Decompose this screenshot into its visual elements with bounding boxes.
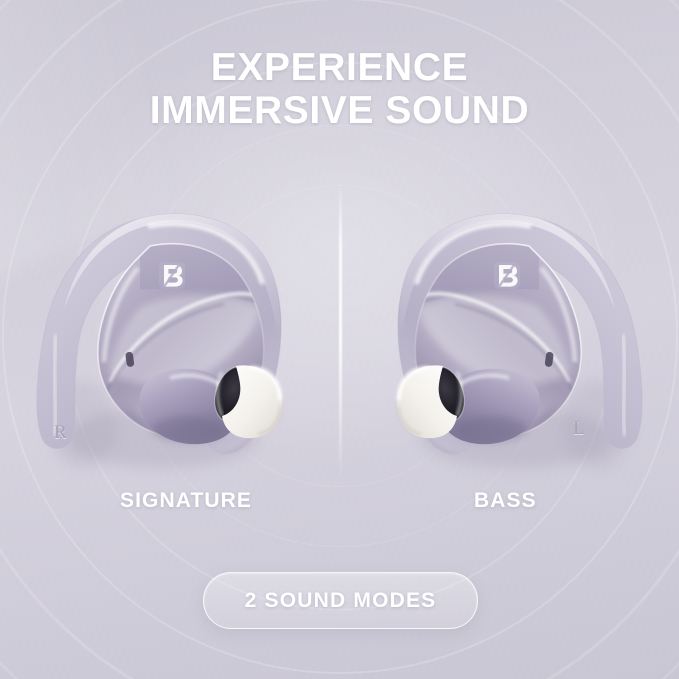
sound-modes-badge: 2 SOUND MODES [203,572,478,629]
headline-line-2: IMMERSIVE SOUND [0,89,679,132]
headline-line-1: EXPERIENCE [0,46,679,89]
product-marketing-image: EXPERIENCE IMMERSIVE SOUND [0,0,679,679]
brand-logo [159,262,185,289]
earbud-bass [357,186,657,476]
center-divider [339,180,342,480]
brand-logo [494,262,520,289]
sound-modes-badge-label: 2 SOUND MODES [245,589,437,613]
mode-label-bass: BASS [474,489,537,513]
side-mark-r: R [54,422,67,444]
page-title: EXPERIENCE IMMERSIVE SOUND [0,46,679,132]
side-mark-l: L [573,418,585,440]
earbud-signature: R [22,186,322,476]
mode-label-signature: SIGNATURE [120,489,252,513]
